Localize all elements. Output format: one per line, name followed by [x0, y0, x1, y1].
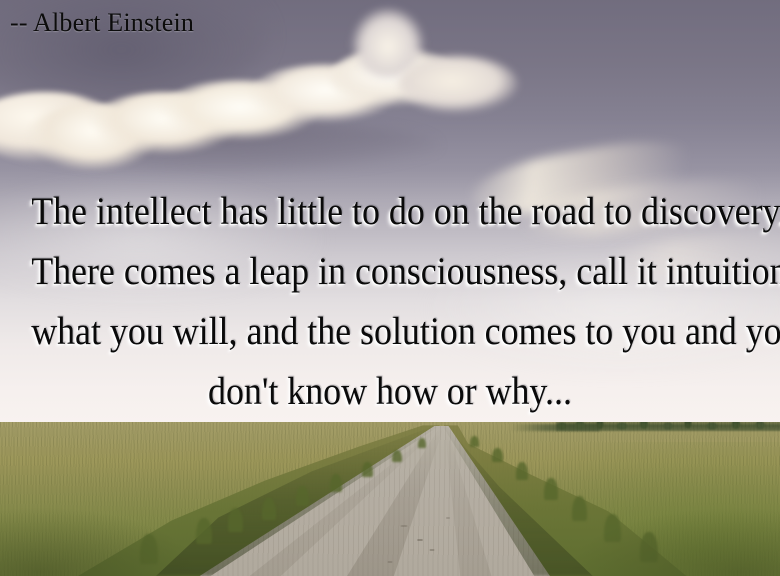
- quote-line-1: The intellect has little to do on the ro…: [31, 182, 749, 242]
- landscape: [0, 422, 780, 576]
- quote-line-3: what you will, and the solution comes to…: [31, 302, 749, 362]
- quote-line-4: don't know how or why...: [31, 362, 749, 422]
- quote-line-2: There comes a leap in consciousness, cal…: [31, 242, 749, 302]
- field-vignette: [0, 422, 780, 576]
- attribution-text: -- Albert Einstein: [10, 9, 194, 38]
- quote-image: -- Albert Einstein The intellect has lit…: [0, 0, 780, 576]
- quote-text: The intellect has little to do on the ro…: [0, 182, 780, 422]
